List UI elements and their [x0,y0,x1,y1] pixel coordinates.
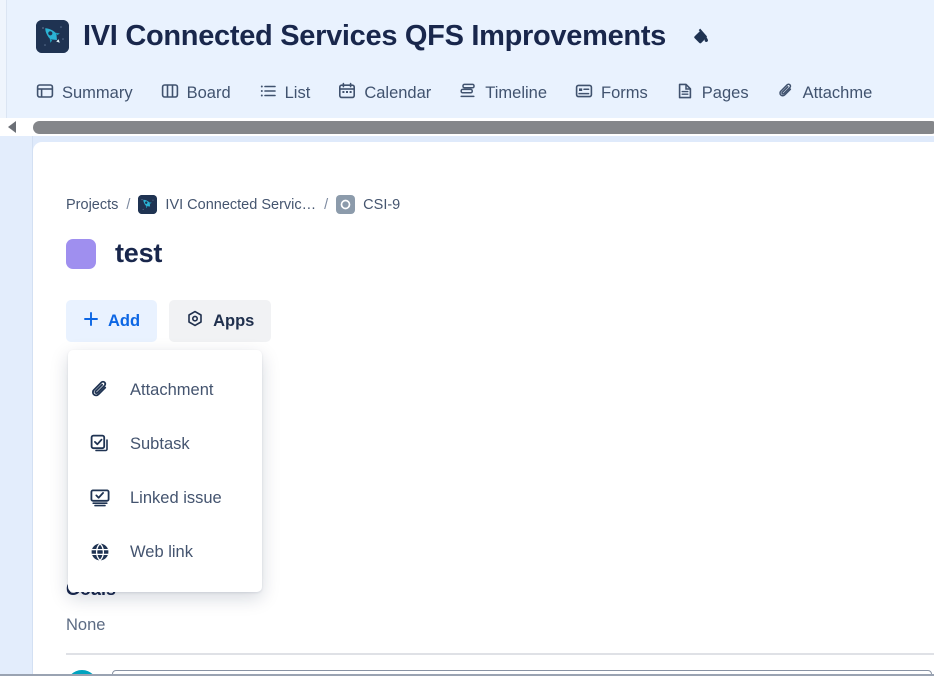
calendar-icon [338,82,356,105]
list-icon [259,82,277,105]
left-gutter [0,136,33,676]
tab-board[interactable]: Board [161,78,245,109]
menu-item-label: Web link [130,543,193,562]
apps-hex-icon [186,310,204,333]
scrollbar-thumb[interactable] [33,121,934,134]
header-left-strip [0,0,7,118]
paint-bucket-icon[interactable] [688,25,712,49]
breadcrumb-separator: / [126,197,130,213]
tab-label: Attachme [803,84,873,103]
breadcrumb[interactable]: Projects / IVI Connected Servic… [66,195,400,214]
menu-item-subtask[interactable]: Subtask [68,417,262,471]
tab-label: Timeline [485,84,547,103]
issue-type-icon [336,195,355,214]
scrollbar-track[interactable] [24,121,934,134]
page-title: IVI Connected Services QFS Improvements [83,20,666,53]
timeline-icon [459,82,477,105]
tab-label: Pages [702,84,749,103]
tab-label: Forms [601,84,648,103]
issue-detail-card: Projects / IVI Connected Servic… [33,142,934,676]
menu-item-label: Subtask [130,435,190,454]
menu-item-label: Linked issue [130,489,222,508]
board-icon [161,82,179,105]
add-menu[interactable]: Attachment Subtask [68,350,262,592]
linked-issue-icon [88,486,112,510]
tab-label: Summary [62,84,133,103]
breadcrumb-issue-key[interactable]: CSI-9 [363,197,400,213]
plus-icon [83,311,99,332]
issue-action-row: Add Apps [66,300,271,342]
goals-value[interactable]: None [66,616,105,635]
section-divider [66,653,934,655]
paperclip-icon [88,378,112,402]
menu-item-label: Attachment [130,381,213,400]
horizontal-scrollbar[interactable] [0,118,934,136]
tab-timeline[interactable]: Timeline [459,78,561,109]
project-title-row: IVI Connected Services QFS Improvements [36,20,712,53]
summary-icon [36,82,54,105]
tab-calendar[interactable]: Calendar [338,78,445,109]
globe-icon [88,540,112,564]
pages-icon [676,82,694,105]
breadcrumb-projects[interactable]: Projects [66,197,118,213]
rocket-icon [138,195,157,214]
project-tab-bar[interactable]: Summary Board List [36,78,900,109]
rocket-icon [36,20,69,53]
issue-color-chip [66,239,96,269]
issue-title[interactable]: test [115,238,162,269]
apps-button[interactable]: Apps [169,300,271,342]
forms-icon [575,82,593,105]
add-button[interactable]: Add [66,300,157,342]
scroll-left-arrow-icon[interactable] [0,118,24,136]
page-body: Projects / IVI Connected Servic… [0,136,934,676]
attachments-icon [777,82,795,105]
tab-label: List [285,84,311,103]
menu-item-linked-issue[interactable]: Linked issue [68,471,262,525]
subtask-checkbox-icon [88,432,112,456]
project-header: IVI Connected Services QFS Improvements … [0,0,934,118]
tab-summary[interactable]: Summary [36,78,147,109]
apps-button-label: Apps [213,312,254,331]
menu-item-web-link[interactable]: Web link [68,525,262,579]
breadcrumb-project[interactable]: IVI Connected Servic… [165,197,316,213]
tab-attachments[interactable]: Attachme [777,78,887,109]
tab-label: Board [187,84,231,103]
add-button-label: Add [108,312,140,331]
tab-label: Calendar [364,84,431,103]
tab-list[interactable]: List [259,78,325,109]
tab-pages[interactable]: Pages [676,78,763,109]
tab-forms[interactable]: Forms [575,78,662,109]
menu-item-attachment[interactable]: Attachment [68,363,262,417]
issue-title-row: test [66,238,162,269]
breadcrumb-separator: / [324,197,328,213]
